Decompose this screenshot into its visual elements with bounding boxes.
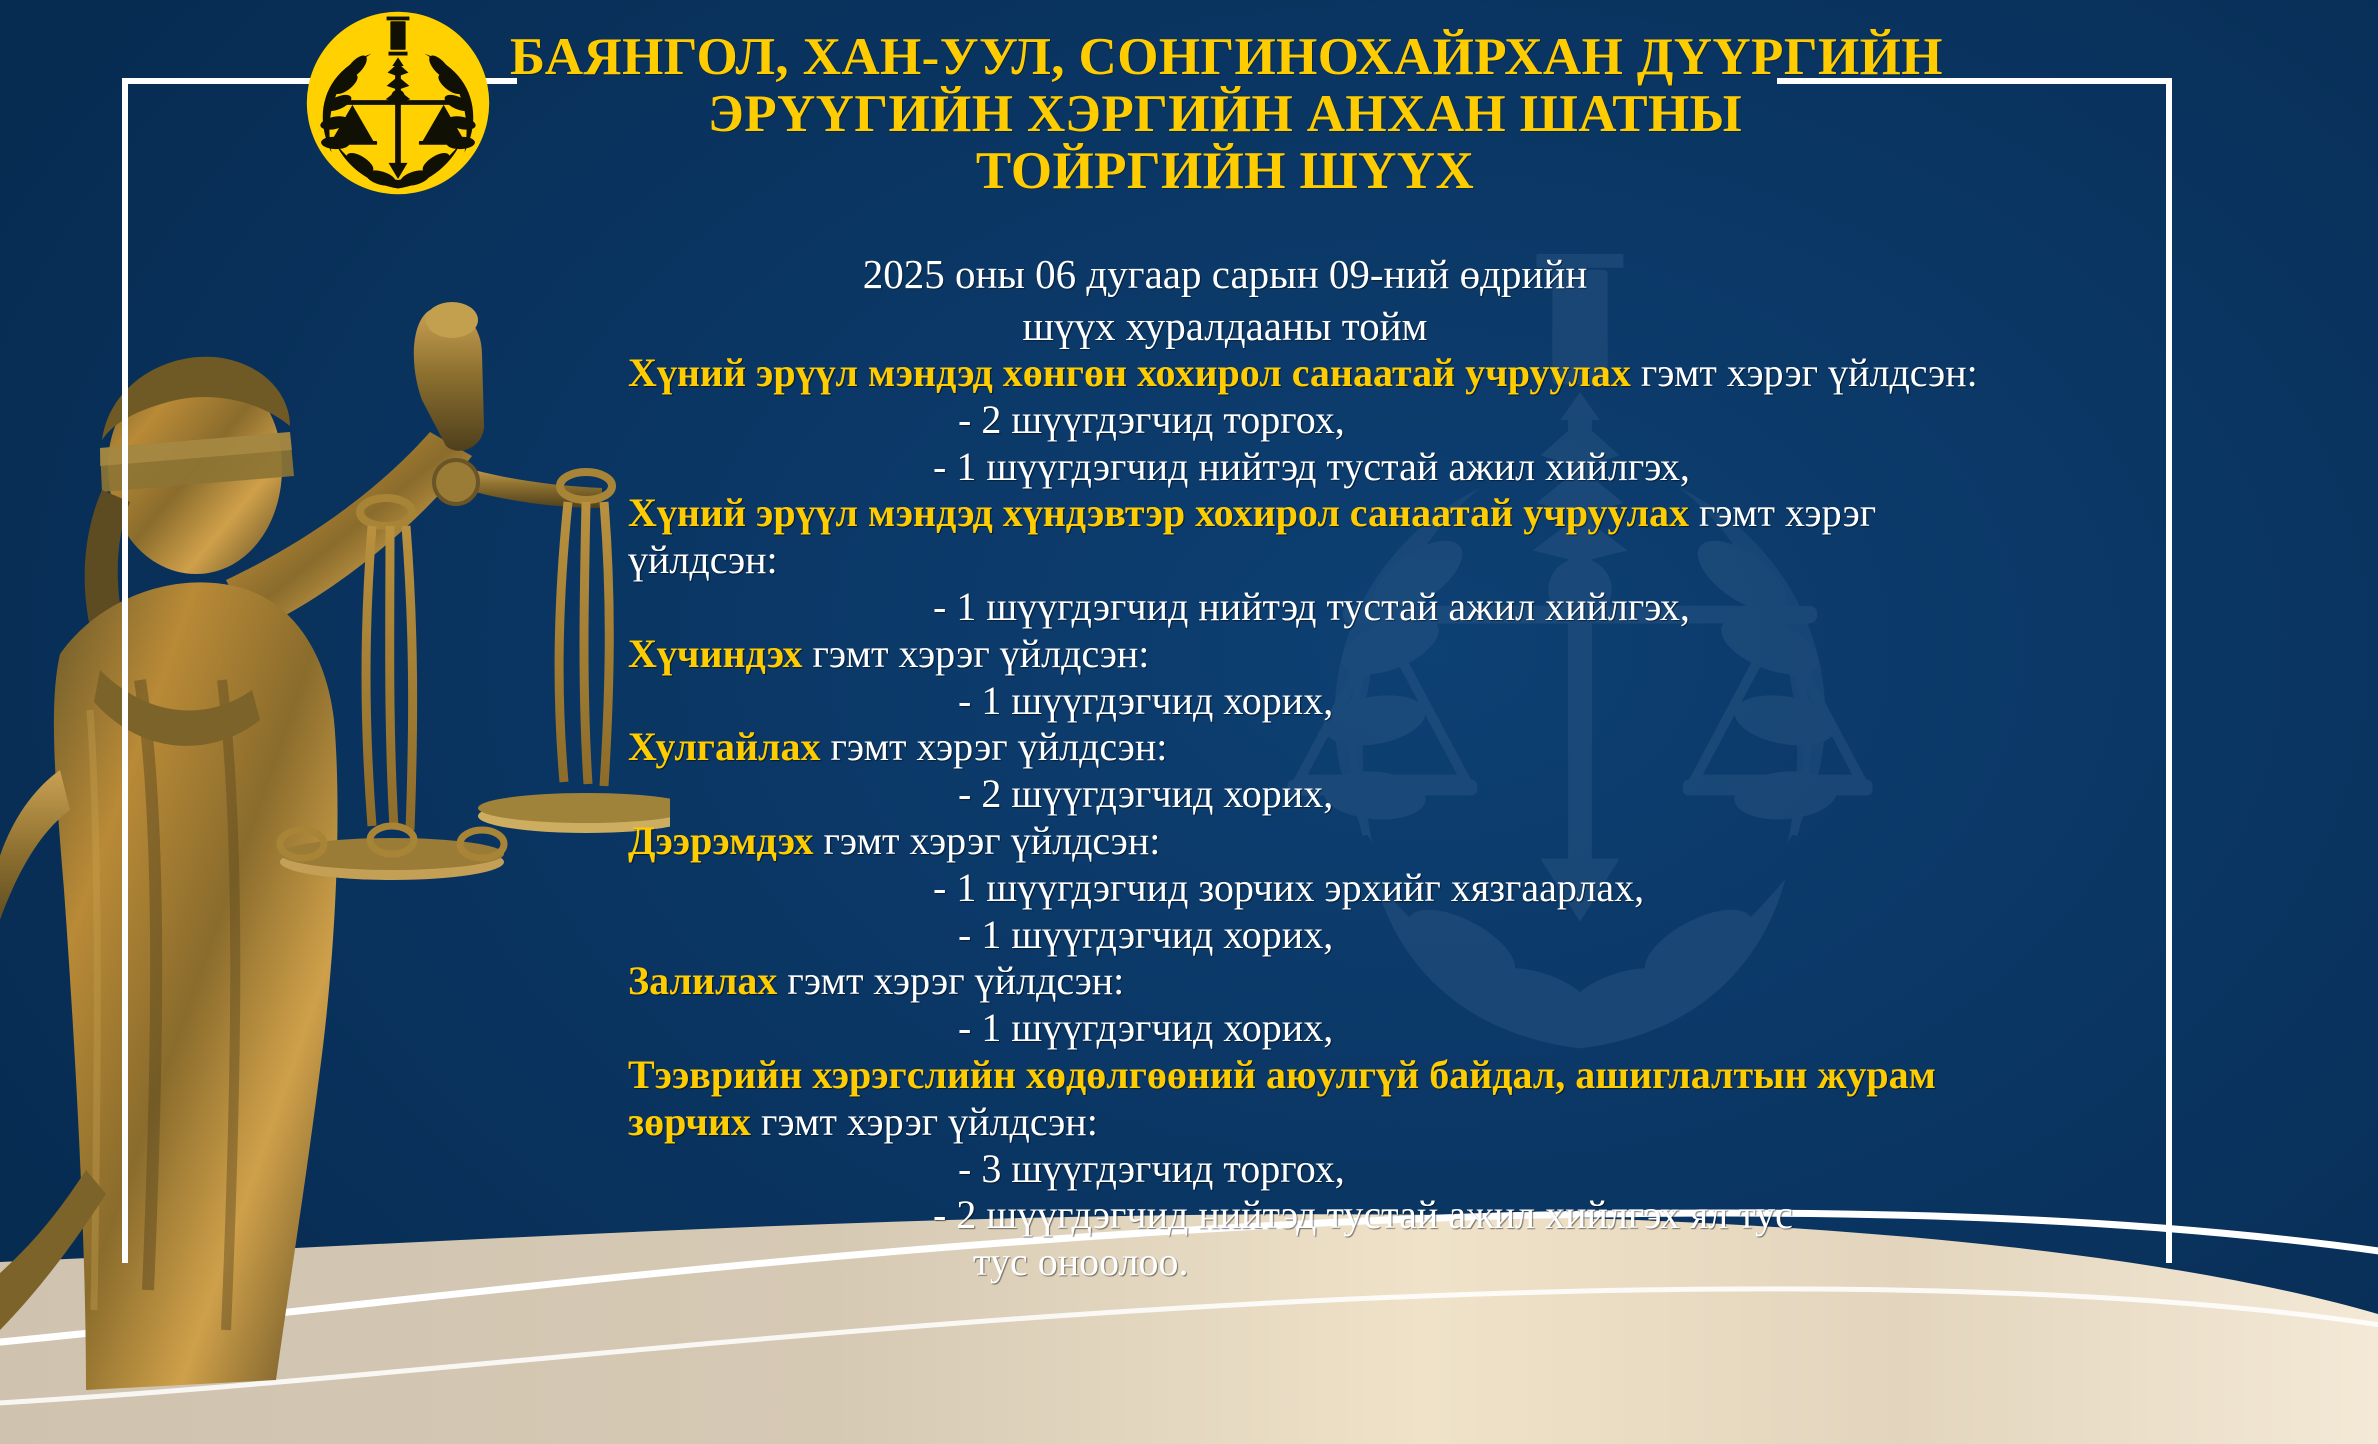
penalty-line: - 1 шүүгдэгчид хорих, xyxy=(628,912,2038,959)
court-emblem-icon xyxy=(303,8,493,198)
penalty-line: - 2 шүүгдэгчид нийтэд тустай ажил хийлгэ… xyxy=(628,1192,2038,1239)
section-heading-wrap: үйлдсэн: xyxy=(628,537,2038,584)
crime-suffix: гэмт хэрэг xyxy=(1689,490,1876,535)
subtitle-line-2: шүүх хуралдааны тойм xyxy=(560,300,1890,352)
penalty-line: - 1 шүүгдэгчид хорих, xyxy=(628,1005,2038,1052)
crime-name: Залилах xyxy=(628,958,777,1003)
subtitle-line-1: 2025 оны 06 дугаар сарын 09-ний өдрийн xyxy=(560,248,1890,300)
penalty-line: - 2 шүүгдэгчид торгох, xyxy=(628,397,2038,444)
section-heading: Хүний эрүүл мэндэд хөнгөн хохирол санаат… xyxy=(628,350,2038,397)
crime-name: Хүчиндэх xyxy=(628,631,803,676)
penalty-line: - 1 шүүгдэгчид нийтэд тустай ажил хийлгэ… xyxy=(628,444,2038,491)
section-heading: Залилах гэмт хэрэг үйлдсэн: xyxy=(628,958,2038,1005)
crime-name: Хулгайлах xyxy=(628,724,820,769)
summary-body: Хүний эрүүл мэндэд хөнгөн хохирол санаат… xyxy=(628,350,2038,1286)
section-heading: Хүчиндэх гэмт хэрэг үйлдсэн: xyxy=(628,631,2038,678)
section-heading: Дээрэмдэх гэмт хэрэг үйлдсэн: xyxy=(628,818,2038,865)
penalty-line: тус оноолоо. xyxy=(628,1239,2038,1286)
crime-name: Хүний эрүүл мэндэд хөнгөн хохирол санаат… xyxy=(628,350,1631,395)
title-line-1: БАЯНГОЛ, ХАН-УУЛ, СОНГИНОХАЙРХАН ДҮҮРГИЙ… xyxy=(510,30,1940,85)
title-line-3: ТОЙРГИЙН ШҮҮХ xyxy=(510,144,1940,199)
subtitle-date: 2025 оны 06 дугаар сарын 09-ний өдрийн ш… xyxy=(560,248,1890,353)
section-heading: Хүний эрүүл мэндэд хүндэвтэр хохирол сан… xyxy=(628,490,2038,537)
section-heading: Тээврийн хэрэгслийн хөдөлгөөний аюулгүй … xyxy=(628,1052,2038,1099)
penalty-line: - 1 шүүгдэгчид хорих, xyxy=(628,678,2038,725)
crime-suffix: гэмт хэрэг үйлдсэн: xyxy=(751,1099,1098,1144)
penalty-line: - 2 шүүгдэгчид хорих, xyxy=(628,771,2038,818)
penalty-line: - 1 шүүгдэгчид нийтэд тустай ажил хийлгэ… xyxy=(628,584,2038,631)
crime-name-2: зөрчих xyxy=(628,1099,751,1144)
crime-name: Хүний эрүүл мэндэд хүндэвтэр хохирол сан… xyxy=(628,490,1689,535)
page-title: БАЯНГОЛ, ХАН-УУЛ, СОНГИНОХАЙРХАН ДҮҮРГИЙ… xyxy=(510,30,1940,199)
section-heading: Хулгайлах гэмт хэрэг үйлдсэн: xyxy=(628,724,2038,771)
crime-name: Дээрэмдэх xyxy=(628,818,813,863)
section-heading-wrap: зөрчих гэмт хэрэг үйлдсэн: xyxy=(628,1099,2038,1146)
court-summary-poster: БАЯНГОЛ, ХАН-УУЛ, СОНГИНОХАЙРХАН ДҮҮРГИЙ… xyxy=(0,0,2378,1444)
penalty-line: - 1 шүүгдэгчид зорчих эрхийг хязгаарлах, xyxy=(628,865,2038,912)
crime-suffix: гэмт хэрэг үйлдсэн: xyxy=(1631,350,1978,395)
crime-name: Тээврийн хэрэгслийн хөдөлгөөний аюулгүй … xyxy=(628,1052,1936,1097)
crime-suffix: гэмт хэрэг үйлдсэн: xyxy=(813,818,1160,863)
penalty-line: - 3 шүүгдэгчид торгох, xyxy=(628,1146,2038,1193)
crime-suffix: гэмт хэрэг үйлдсэн: xyxy=(777,958,1124,1003)
crime-suffix: гэмт хэрэг үйлдсэн: xyxy=(820,724,1167,769)
crime-suffix: гэмт хэрэг үйлдсэн: xyxy=(803,631,1150,676)
title-line-2: ЭРҮҮГИЙН ХЭРГИЙН АНХАН ШАТНЫ xyxy=(510,87,1940,142)
